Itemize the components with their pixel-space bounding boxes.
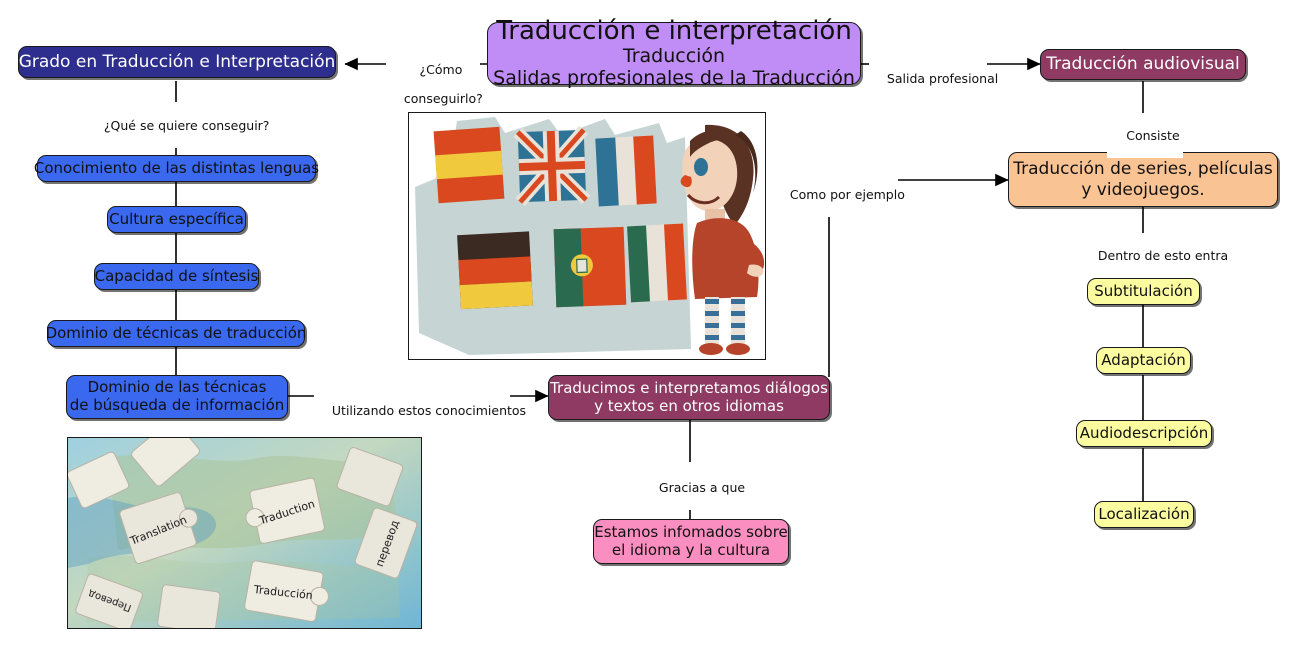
- node-label: Cultura específica: [109, 211, 244, 229]
- edge-label-line-2: conseguirlo?: [404, 91, 483, 106]
- edge-label-utilizando-conocimientos: Utilizando estos conocimientos: [314, 389, 510, 433]
- node-label: Localización: [1098, 506, 1189, 524]
- node-label-line-1: Dominio de las técnicas: [88, 379, 267, 397]
- node-audiodescripcion[interactable]: Audiodescripción: [1076, 420, 1212, 447]
- node-label-line-2: y videojuegos.: [1081, 180, 1204, 200]
- node-label: Traducción audiovisual: [1046, 54, 1240, 74]
- node-label-line-2: y textos en otros idiomas: [594, 398, 784, 416]
- node-traduccion-series-peliculas-videojuegos[interactable]: Traducción de series, películas y videoj…: [1008, 152, 1278, 207]
- flag-germany: [457, 231, 533, 309]
- node-traducimos-interpretamos[interactable]: Traducimos e interpretamos diálogos y te…: [548, 375, 830, 420]
- flag-portugal: [554, 227, 627, 307]
- node-cultura-especifica[interactable]: Cultura específica: [107, 206, 246, 233]
- edge-label-text: Utilizando estos conocimientos: [332, 403, 526, 418]
- edge-label-text: ¿Qué se quiere conseguir?: [104, 118, 270, 133]
- node-title-traduccion-e-interpretacion[interactable]: Traducción e interpretación Traducción S…: [487, 22, 861, 85]
- flags-illustration-svg: [409, 113, 765, 359]
- edge-label-text: Consiste: [1126, 128, 1179, 143]
- node-estamos-informados[interactable]: Estamos infomados sobre el idioma y la c…: [593, 519, 789, 564]
- edge-label-line-1: ¿Cómo: [420, 62, 463, 77]
- flag-france: [595, 136, 656, 207]
- node-label-line-1: Traducimos e interpretamos diálogos: [550, 380, 828, 398]
- node-localizacion[interactable]: Localización: [1094, 501, 1194, 528]
- flag-italy: [627, 224, 687, 303]
- edge-label-text: Como por ejemplo: [790, 187, 905, 202]
- node-dominio-tecnicas-traduccion[interactable]: Dominio de técnicas de traducción: [47, 320, 305, 347]
- edge-label-que-se-quiere-conseguir: ¿Qué se quiere conseguir?: [86, 104, 270, 148]
- edge-label-como-conseguirlo: ¿Cómo conseguirlo?: [386, 48, 480, 122]
- edge-label-text: Salida profesional: [887, 71, 998, 86]
- puzzle-translation-map[interactable]: Translation Traduction Traducción перево…: [67, 437, 422, 629]
- node-conocimiento-lenguas[interactable]: Conocimiento de las distintas lenguas: [37, 155, 316, 182]
- flag-uk: [518, 130, 586, 202]
- node-label: Dominio de técnicas de traducción: [46, 325, 307, 343]
- node-traduccion-audiovisual[interactable]: Traducción audiovisual: [1040, 49, 1246, 80]
- node-label: Subtitulación: [1094, 283, 1192, 301]
- node-label: Audiodescripción: [1080, 425, 1208, 443]
- edge-label-consiste: Consiste: [1107, 114, 1183, 158]
- node-label: Capacidad de síntesis: [95, 268, 259, 286]
- node-label-line-2: el idioma y la cultura: [612, 542, 770, 560]
- edge-label-dentro-de-esto-entra: Dentro de esto entra: [1080, 234, 1212, 278]
- node-label-line-1: Traducción de series, películas: [1013, 159, 1272, 179]
- title-line-3: Salidas profesionales de la Traducción: [493, 68, 855, 90]
- flag-spain: [434, 127, 505, 203]
- edge-label-salida-profesional: Salida profesional: [869, 57, 977, 101]
- concept-map-canvas: Traducción e interpretación Traducción S…: [0, 0, 1300, 650]
- node-label: Adaptación: [1101, 352, 1185, 370]
- edge-label-como-por-ejemplo: Como por ejemplo: [772, 173, 878, 217]
- puzzle-illustration-svg: Translation Traduction Traducción перево…: [68, 438, 421, 628]
- node-subtitulacion[interactable]: Subtitulación: [1087, 278, 1200, 305]
- title-line-1: Traducción e interpretación: [496, 17, 852, 46]
- node-capacidad-sintesis[interactable]: Capacidad de síntesis: [94, 263, 259, 290]
- node-label-line-2: de búsqueda de información: [70, 397, 285, 415]
- edge-label-gracias-a-que: Gracias a que: [641, 466, 743, 510]
- edge-label-text: Gracias a que: [659, 480, 745, 495]
- node-adaptacion[interactable]: Adaptación: [1096, 347, 1191, 374]
- node-label: Grado en Traducción e Interpretación: [19, 52, 336, 72]
- node-grado-traduccion-interpretacion[interactable]: Grado en Traducción e Interpretación: [18, 46, 336, 78]
- flags-and-girl-illustration[interactable]: [408, 112, 766, 360]
- title-line-2: Traducción: [623, 46, 725, 68]
- node-dominio-tecnicas-busqueda[interactable]: Dominio de las técnicas de búsqueda de i…: [66, 375, 288, 419]
- node-label-line-1: Estamos infomados sobre: [594, 524, 788, 542]
- edge-label-text: Dentro de esto entra: [1098, 248, 1228, 263]
- node-label: Conocimiento de las distintas lenguas: [34, 160, 319, 178]
